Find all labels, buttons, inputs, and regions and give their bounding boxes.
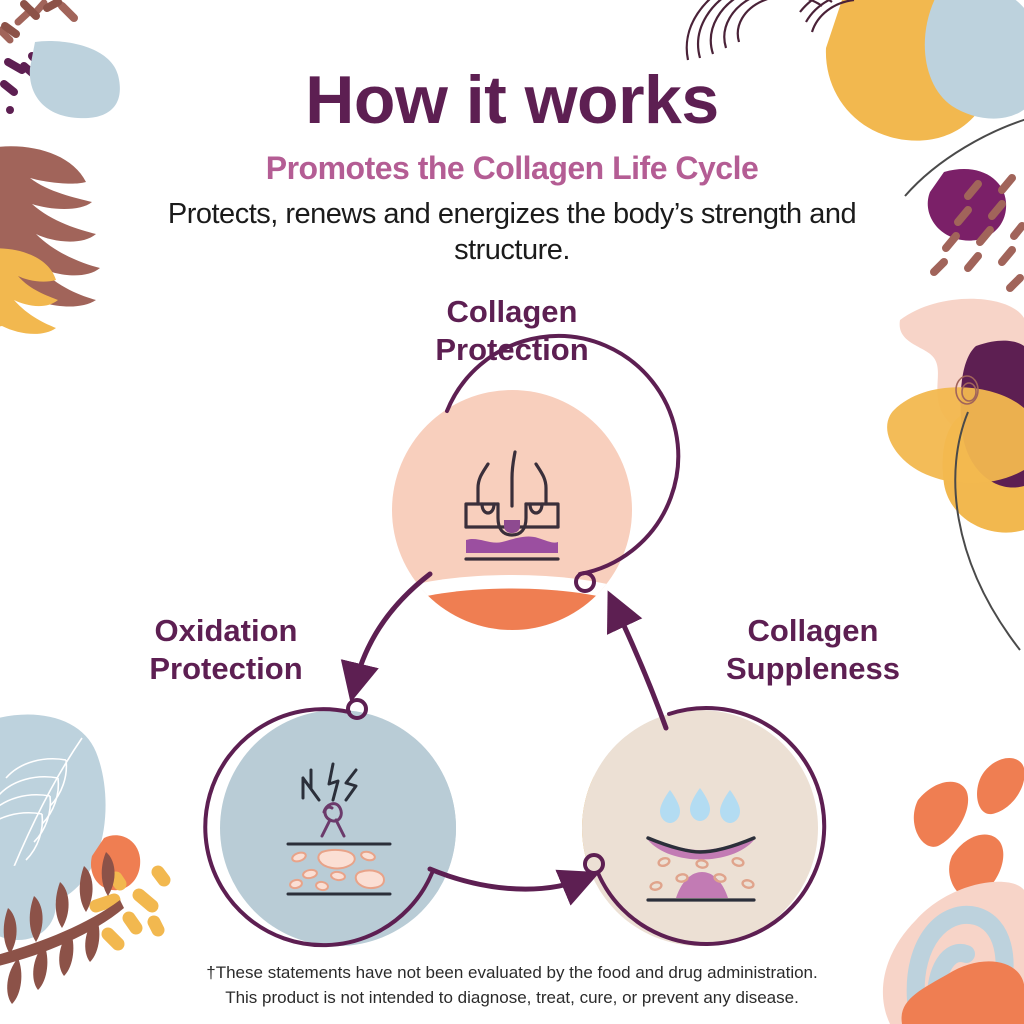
page-subtitle: Promotes the Collagen Life Cycle <box>0 148 1024 188</box>
page-title: How it works <box>0 60 1024 140</box>
node-label-collagen-suppleness: Collagen Suppleness <box>668 612 958 688</box>
legal-disclaimer: †These statements have not been evaluate… <box>0 960 1024 1010</box>
node-label-collagen-protection: Collagen Protection <box>362 293 662 369</box>
page-tagline: Protects, renews and energizes the body’… <box>0 196 1024 268</box>
text-layer: How it works Promotes the Collagen Life … <box>0 0 1024 1024</box>
infographic-canvas: How it works Promotes the Collagen Life … <box>0 0 1024 1024</box>
node-label-oxidation-protection: Oxidation Protection <box>95 612 357 688</box>
